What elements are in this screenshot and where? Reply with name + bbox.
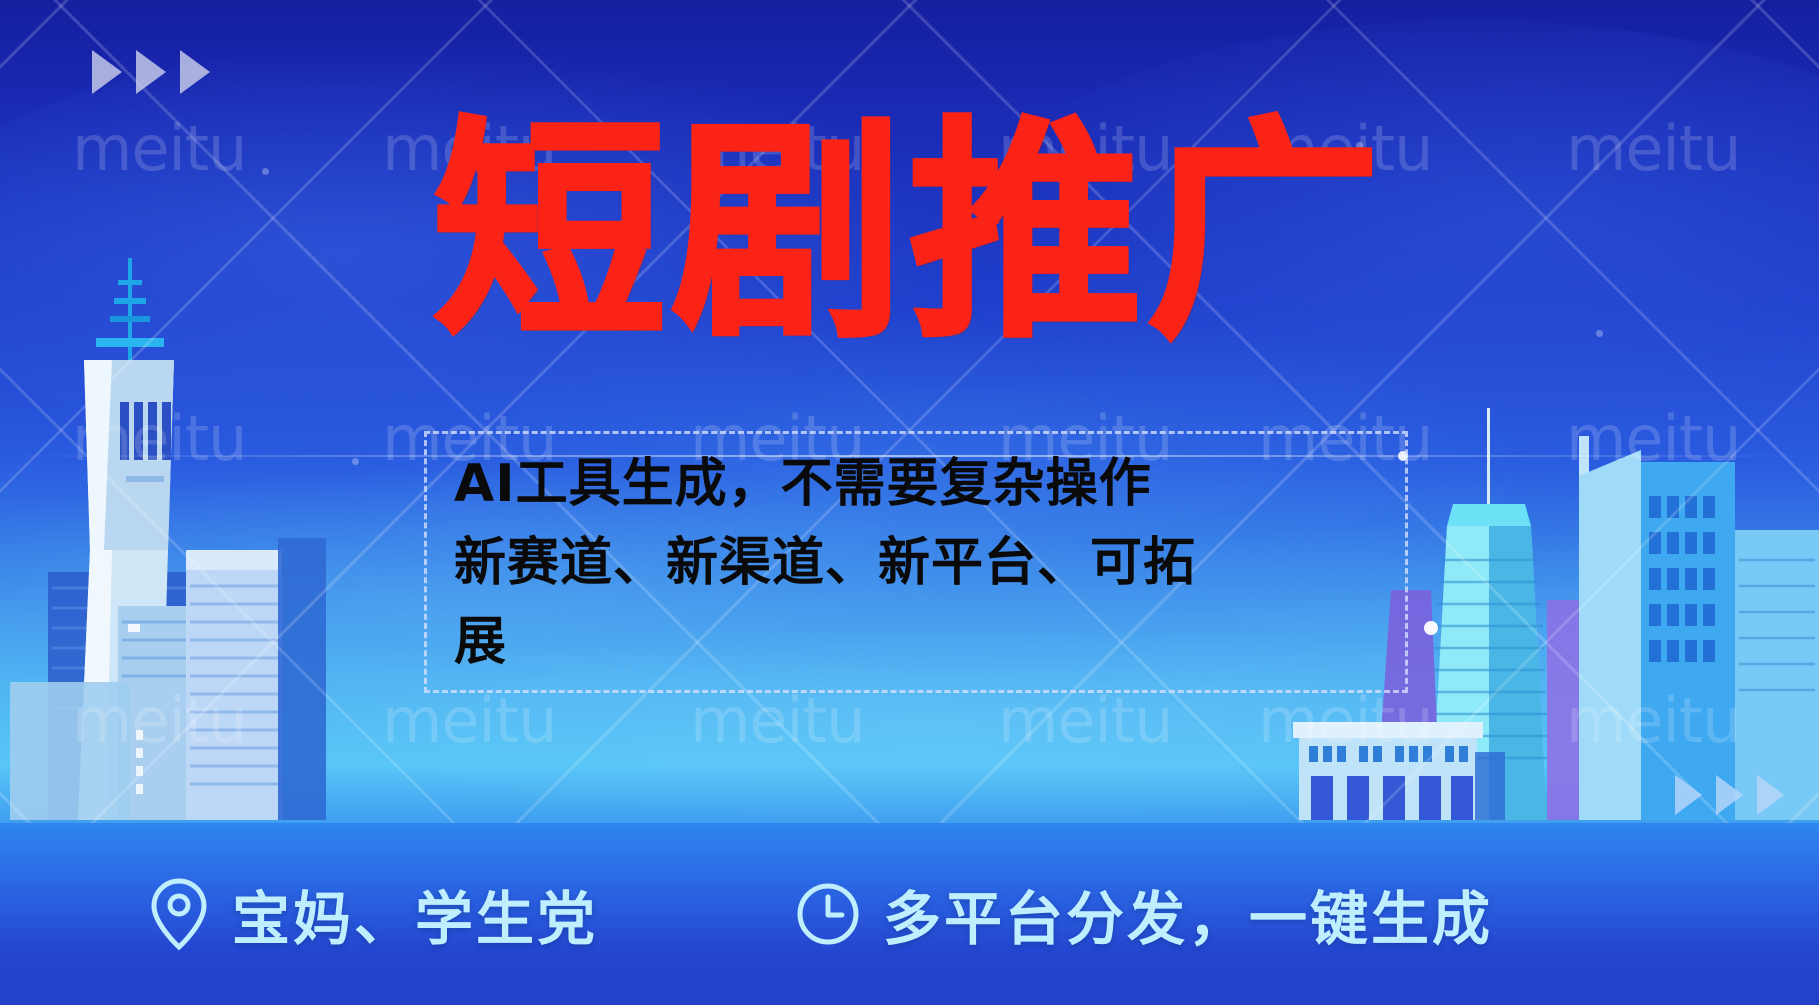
- description-line: 新赛道、新渠道、新平台、可拓: [454, 524, 1414, 603]
- description-line: AI工具生成，不需要复杂操作: [454, 445, 1414, 524]
- description-line: 展: [454, 603, 1414, 682]
- top-arrow-decoration: [92, 50, 210, 94]
- page-title: 短剧推广: [0, 108, 1819, 359]
- footer-item-audience: 宝妈、学生党: [148, 872, 598, 956]
- play-triangle-icon: [92, 50, 122, 94]
- location-pin-icon: [148, 877, 210, 951]
- footer-item-label: 宝妈、学生党: [232, 872, 598, 956]
- description-text: AI工具生成，不需要复杂操作 新赛道、新渠道、新平台、可拓 展: [454, 445, 1414, 682]
- footer-item-label: 多平台分发，一键生成: [883, 872, 1493, 956]
- play-triangle-icon: [1716, 775, 1743, 815]
- promo-banner: meitu meitu meitu meitu meitu meitu meit…: [0, 0, 1819, 1005]
- play-triangle-icon: [136, 50, 166, 94]
- clock-icon: [795, 881, 861, 947]
- bottom-arrow-decoration: [1675, 775, 1784, 815]
- play-triangle-icon: [1675, 775, 1702, 815]
- footer-bar: 宝妈、学生党 多平台分发，一键生成: [0, 823, 1819, 1005]
- play-triangle-icon: [180, 50, 210, 94]
- footer-item-distribution: 多平台分发，一键生成: [795, 872, 1493, 956]
- play-triangle-icon: [1757, 775, 1784, 815]
